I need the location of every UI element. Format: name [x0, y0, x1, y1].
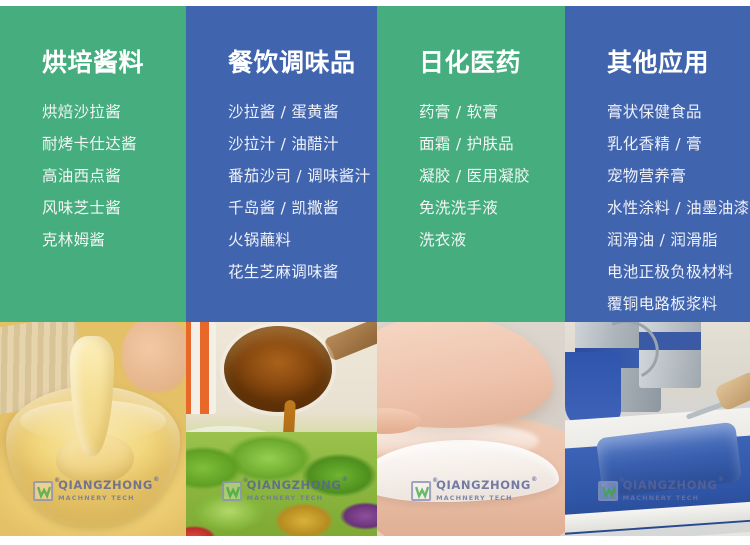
category-title: 烘培酱料	[42, 48, 186, 78]
list-item: 沙拉酱 / 蛋黄酱	[228, 96, 377, 128]
category-item-list: 烘焙沙拉酱 耐烤卡仕达酱 高油西点酱 风味芝士酱 克林姆酱	[42, 96, 186, 256]
decor-striped-cup	[186, 322, 216, 414]
photo-creamy-yellow-sauce-bowl: ® QIANGZHONG® MACHNERY TECH	[0, 322, 186, 536]
photo-cream-on-skin: ® QIANGZHONG® MACHNERY TECH	[377, 322, 565, 536]
category-item-list: 膏状保健食品 乳化香精 / 膏 宠物营养膏 水性涂料 / 油墨油漆 润滑油 / …	[607, 96, 750, 320]
list-item: 面霜 / 护肤品	[419, 128, 565, 160]
list-item: 覆铜电路板浆料	[607, 288, 750, 320]
photo-salad-dressing-pour: ® QIANGZHONG® MACHNERY TECH	[186, 322, 377, 536]
list-item: 番茄沙司 / 调味酱汁	[228, 160, 377, 192]
list-item: 花生芝麻调味酱	[228, 256, 377, 288]
list-item: 凝胶 / 医用凝胶	[419, 160, 565, 192]
list-item: 药膏 / 软膏	[419, 96, 565, 128]
decor-hand	[122, 322, 186, 392]
category-card-catering-seasonings[interactable]: 餐饮调味品 沙拉酱 / 蛋黄酱 沙拉汁 / 油醋汁 番茄沙司 / 调味酱汁 千岛…	[186, 6, 377, 322]
list-item: 烘焙沙拉酱	[42, 96, 186, 128]
category-title: 其他应用	[607, 48, 750, 78]
category-title: 餐饮调味品	[228, 48, 377, 78]
list-item: 水性涂料 / 油墨油漆	[607, 192, 750, 224]
category-card-other-applications[interactable]: 其他应用 膏状保健食品 乳化香精 / 膏 宠物营养膏 水性涂料 / 油墨油漆 润…	[565, 6, 750, 322]
list-item: 风味芝士酱	[42, 192, 186, 224]
list-item: 乳化香精 / 膏	[607, 128, 750, 160]
list-item: 千岛酱 / 凯撒酱	[228, 192, 377, 224]
list-item: 宠物营养膏	[607, 160, 750, 192]
list-item: 电池正极负极材料	[607, 256, 750, 288]
category-card-daily-chemical-pharma[interactable]: 日化医药 药膏 / 软膏 面霜 / 护肤品 凝胶 / 医用凝胶 免洗洗手液 洗衣…	[377, 6, 565, 322]
category-cards: 烘培酱料 烘焙沙拉酱 耐烤卡仕达酱 高油西点酱 风味芝士酱 克林姆酱 餐饮调味品…	[0, 6, 750, 322]
list-item: 膏状保健食品	[607, 96, 750, 128]
decor-wooden-handle	[324, 322, 377, 362]
decor-glass-ladle	[224, 326, 332, 412]
list-item: 火锅蘸料	[228, 224, 377, 256]
application-showcase-banner: 烘培酱料 烘焙沙拉酱 耐烤卡仕达酱 高油西点酱 风味芝士酱 克林姆酱 餐饮调味品…	[0, 0, 750, 545]
photo-blue-paint-roller: ® QIANGZHONG® MACHNERY TECH	[565, 322, 750, 536]
category-title: 日化医药	[419, 48, 565, 78]
list-item: 润滑油 / 润滑脂	[607, 224, 750, 256]
category-item-list: 沙拉酱 / 蛋黄酱 沙拉汁 / 油醋汁 番茄沙司 / 调味酱汁 千岛酱 / 凯撒…	[228, 96, 377, 288]
category-item-list: 药膏 / 软膏 面霜 / 护肤品 凝胶 / 医用凝胶 免洗洗手液 洗衣液	[419, 96, 565, 256]
decor-hand	[377, 322, 553, 428]
list-item: 高油西点酱	[42, 160, 186, 192]
product-photo-strip: ® QIANGZHONG® MACHNERY TECH ® QIANGZHON	[0, 322, 750, 536]
category-card-baking-sauces[interactable]: 烘培酱料 烘焙沙拉酱 耐烤卡仕达酱 高油西点酱 风味芝士酱 克林姆酱	[0, 6, 186, 322]
list-item: 免洗洗手液	[419, 192, 565, 224]
list-item: 沙拉汁 / 油醋汁	[228, 128, 377, 160]
decor-salad	[186, 432, 377, 536]
list-item: 克林姆酱	[42, 224, 186, 256]
list-item: 耐烤卡仕达酱	[42, 128, 186, 160]
list-item: 洗衣液	[419, 224, 565, 256]
